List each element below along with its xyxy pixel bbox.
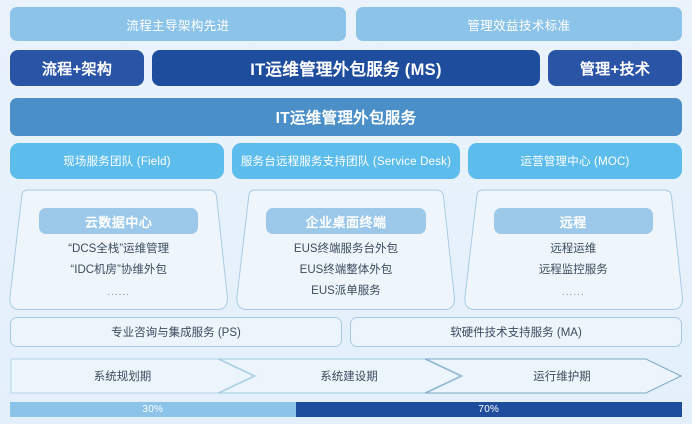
team-label-moc: 运营管理中心 (MOC) bbox=[520, 153, 629, 169]
slogan-row: 流程主导架构先进 管理效益技术标准 bbox=[10, 7, 682, 41]
panel-item-list-1: “DCS全栈”运维管理 “IDC机房”协维外包 ...... bbox=[24, 241, 213, 300]
team-pill-field: 现场服务团队 (Field) bbox=[10, 143, 224, 179]
support-label-ma: 软硬件技术支持服务 (MA) bbox=[450, 324, 582, 340]
phase-label-construction: 系统建设期 bbox=[254, 356, 444, 396]
support-box-ps: 专业咨询与集成服务 (PS) bbox=[10, 317, 342, 347]
headline-right-label: 管理+技术 bbox=[580, 58, 650, 79]
project-phase-row: 系统规划期 系统建设期 运行维护期 bbox=[10, 356, 682, 396]
panel-item: EUS终端服务台外包 bbox=[294, 241, 398, 259]
headline-center-label: IT运维管理外包服务 (MS) bbox=[250, 56, 442, 80]
panel-title-cloud-datacenter: 云数据中心 bbox=[39, 208, 198, 234]
team-label-field: 现场服务团队 (Field) bbox=[63, 153, 171, 169]
panel-title-remote: 远程 bbox=[494, 208, 653, 234]
phase-label-planning: 系统规划期 bbox=[10, 356, 235, 396]
headline-row: 流程+架构 IT运维管理外包服务 (MS) 管理+技术 bbox=[10, 50, 682, 86]
percent-label-left: 30% bbox=[142, 404, 163, 415]
headline-center-box: IT运维管理外包服务 (MS) bbox=[152, 50, 540, 86]
service-panels-row: 云数据中心 “DCS全栈”运维管理 “IDC机房”协维外包 ...... 企业桌… bbox=[8, 188, 684, 313]
team-label-service-desk: 服务台远程服务支持团队 (Service Desk) bbox=[241, 153, 451, 169]
panel-item-more: ...... bbox=[107, 285, 130, 301]
service-band-label: IT运维管理外包服务 bbox=[276, 106, 417, 128]
panel-item-list-2: EUS终端服务台外包 EUS终端整体外包 EUS派单服务 bbox=[251, 241, 440, 300]
panel-item: 远程监控服务 bbox=[539, 262, 608, 280]
phase-label-operation: 运行维护期 bbox=[462, 356, 662, 396]
panel-title-enterprise-desktop: 企业桌面终端 bbox=[266, 208, 425, 234]
slogan-label-2: 管理效益技术标准 bbox=[467, 15, 570, 34]
headline-right-box: 管理+技术 bbox=[548, 50, 682, 86]
team-pill-moc: 运营管理中心 (MOC) bbox=[468, 143, 682, 179]
percent-label-right: 70% bbox=[478, 404, 499, 415]
support-label-ps: 专业咨询与集成服务 (PS) bbox=[111, 324, 241, 340]
panel-item-list-3: 远程运维 远程监控服务 ...... bbox=[479, 241, 668, 300]
team-row: 现场服务团队 (Field) 服务台远程服务支持团队 (Service Desk… bbox=[10, 143, 682, 179]
team-pill-service-desk: 服务台远程服务支持团队 (Service Desk) bbox=[232, 143, 460, 179]
headline-left-label: 流程+架构 bbox=[42, 58, 112, 79]
panel-title-label-2: 企业桌面终端 bbox=[305, 212, 386, 231]
service-band: IT运维管理外包服务 bbox=[10, 98, 682, 136]
slogan-label-1: 流程主导架构先进 bbox=[126, 15, 229, 34]
service-panel-cloud-datacenter: 云数据中心 “DCS全栈”运维管理 “IDC机房”协维外包 ...... bbox=[8, 188, 229, 313]
service-band-row: IT运维管理外包服务 bbox=[10, 98, 682, 136]
headline-left-box: 流程+架构 bbox=[10, 50, 144, 86]
percent-segment-left: 30% bbox=[10, 402, 296, 417]
panel-item: “IDC机房”协维外包 bbox=[70, 262, 166, 280]
support-box-ma: 软硬件技术支持服务 (MA) bbox=[350, 317, 682, 347]
panel-item: “DCS全栈”运维管理 bbox=[68, 241, 169, 259]
panel-item: 远程运维 bbox=[550, 241, 596, 259]
panel-item: EUS终端整体外包 bbox=[300, 262, 393, 280]
panel-item: EUS派单服务 bbox=[311, 283, 381, 301]
service-panel-remote: 远程 远程运维 远程监控服务 ...... bbox=[463, 188, 684, 313]
panel-title-label-1: 云数据中心 bbox=[85, 212, 153, 231]
percent-bar: 30% 70% bbox=[10, 402, 682, 417]
panel-item-more: ...... bbox=[562, 285, 585, 301]
service-panel-enterprise-desktop: 企业桌面终端 EUS终端服务台外包 EUS终端整体外包 EUS派单服务 bbox=[235, 188, 456, 313]
slogan-pill-1: 流程主导架构先进 bbox=[10, 7, 346, 41]
support-services-row: 专业咨询与集成服务 (PS) 软硬件技术支持服务 (MA) bbox=[10, 317, 682, 347]
slogan-pill-2: 管理效益技术标准 bbox=[356, 7, 682, 41]
it-outsourcing-service-diagram: 流程主导架构先进 管理效益技术标准 流程+架构 IT运维管理外包服务 (MS) … bbox=[0, 0, 692, 424]
percent-segment-right: 70% bbox=[296, 402, 682, 417]
panel-title-label-3: 远程 bbox=[560, 212, 587, 231]
